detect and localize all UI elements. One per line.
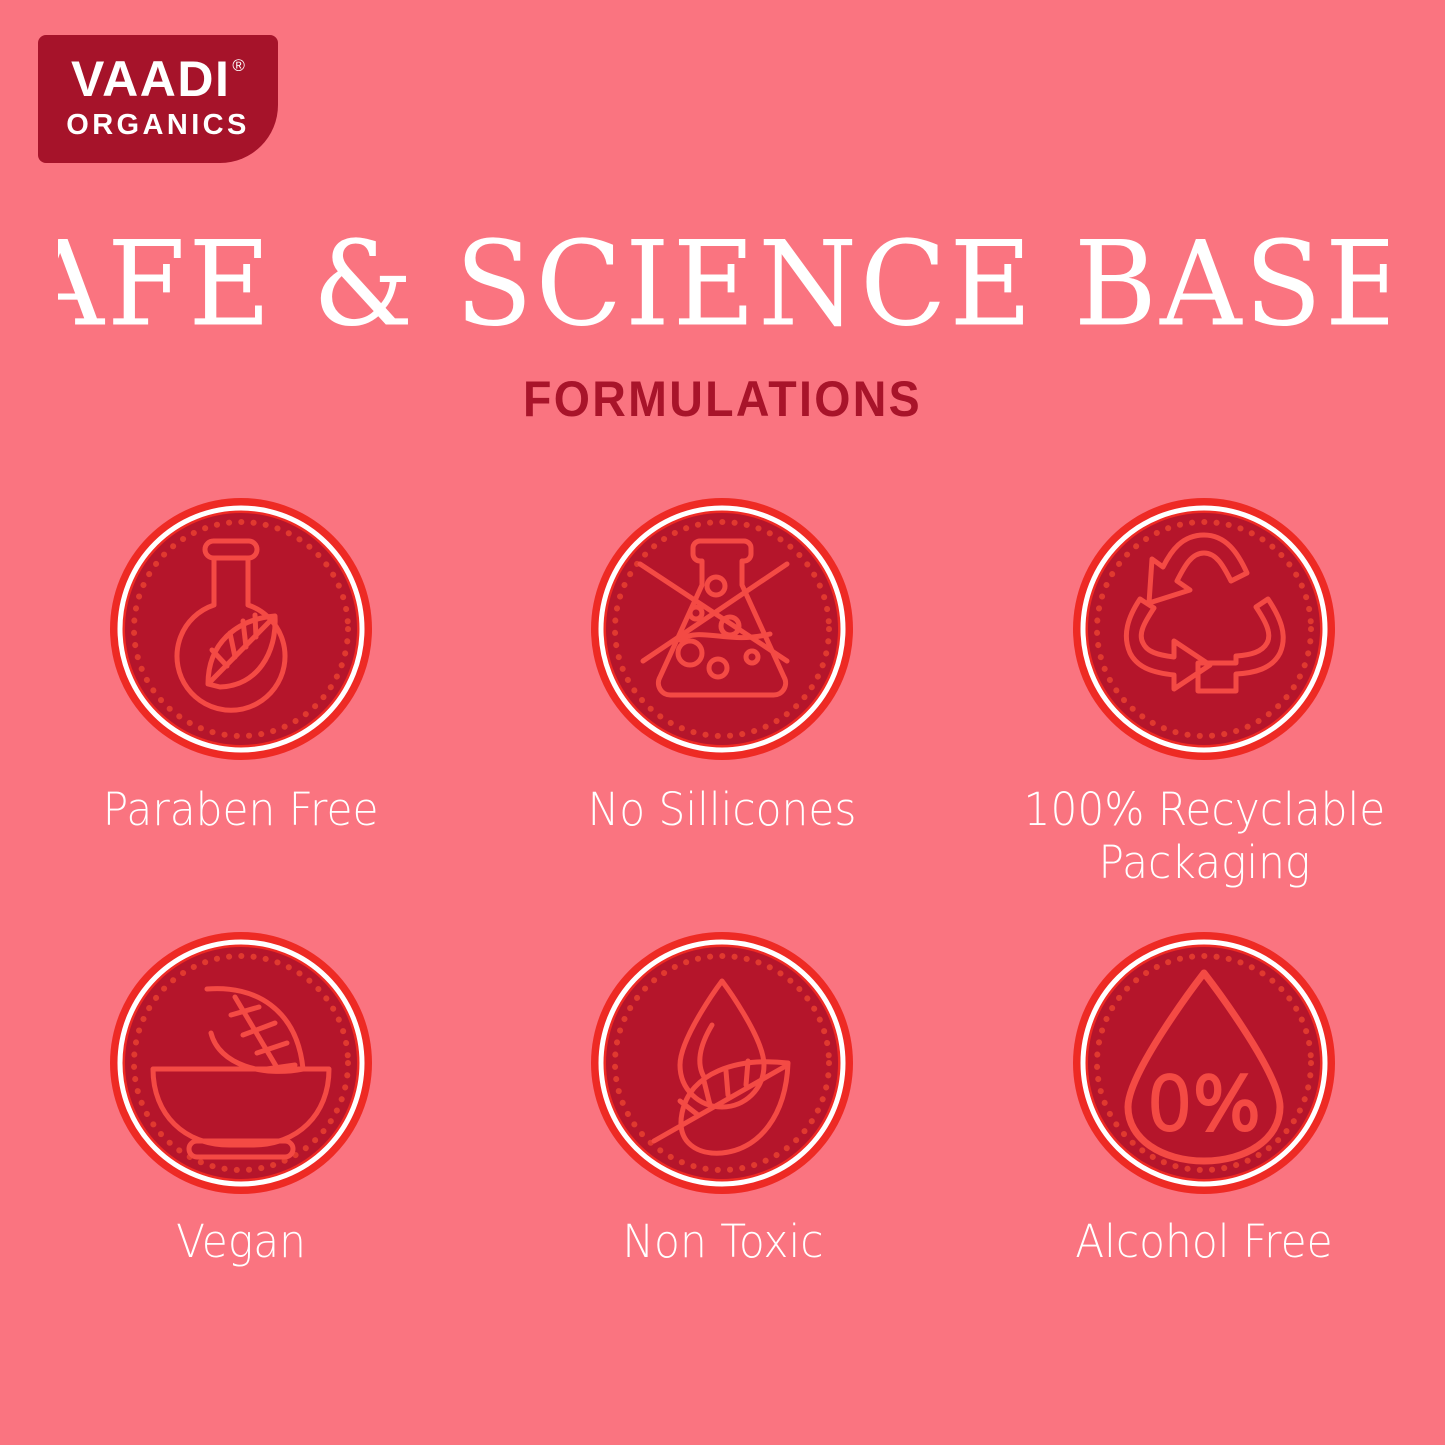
badge-label-vegan: Vegan xyxy=(176,1215,306,1268)
feature-item-non-toxic: Non Toxic xyxy=(482,929,964,1268)
brand-logo: VAADI ® ORGANICS xyxy=(38,35,278,163)
badge-label-no-sillicones: No Sillicones xyxy=(588,783,857,836)
logo-tagline: ORGANICS xyxy=(66,111,250,140)
page-headline: SAFE & SCIENCE BASED xyxy=(0,228,1445,346)
logo-wordmark-row: VAADI ® xyxy=(71,54,245,104)
badge-label-alcohol-free: Alcohol Free xyxy=(1075,1215,1332,1268)
badge-non-toxic xyxy=(588,929,856,1197)
svg-text:0%: 0% xyxy=(1147,1062,1261,1146)
badge-paraben-free xyxy=(107,495,375,763)
feature-badge-grid: Paraben Free xyxy=(0,495,1445,1268)
page-subheadline: FORMULATIONS xyxy=(51,374,1395,424)
badge-label-recyclable-packaging: 100% RecyclablePackaging xyxy=(1023,783,1385,889)
badge-vegan xyxy=(107,929,375,1197)
svg-text:SAFE & SCIENCE BASED: SAFE & SCIENCE BASED xyxy=(58,228,1388,346)
feature-item-no-sillicones: No Sillicones xyxy=(482,495,964,889)
badge-label-non-toxic: Non Toxic xyxy=(622,1215,823,1268)
badge-label-paraben-free: Paraben Free xyxy=(103,783,379,836)
badge-alcohol-free: 0% xyxy=(1070,929,1338,1197)
badge-no-sillicones xyxy=(588,495,856,763)
badge-recyclable-packaging xyxy=(1070,495,1338,763)
registered-trademark-icon: ® xyxy=(232,57,245,74)
logo-brand-name: VAADI xyxy=(71,54,230,104)
feature-item-paraben-free: Paraben Free xyxy=(0,495,482,889)
feature-item-vegan: Vegan xyxy=(0,929,482,1268)
feature-item-alcohol-free: 0% Alcohol Free xyxy=(963,929,1445,1268)
feature-item-recyclable-packaging: 100% RecyclablePackaging xyxy=(963,495,1445,889)
